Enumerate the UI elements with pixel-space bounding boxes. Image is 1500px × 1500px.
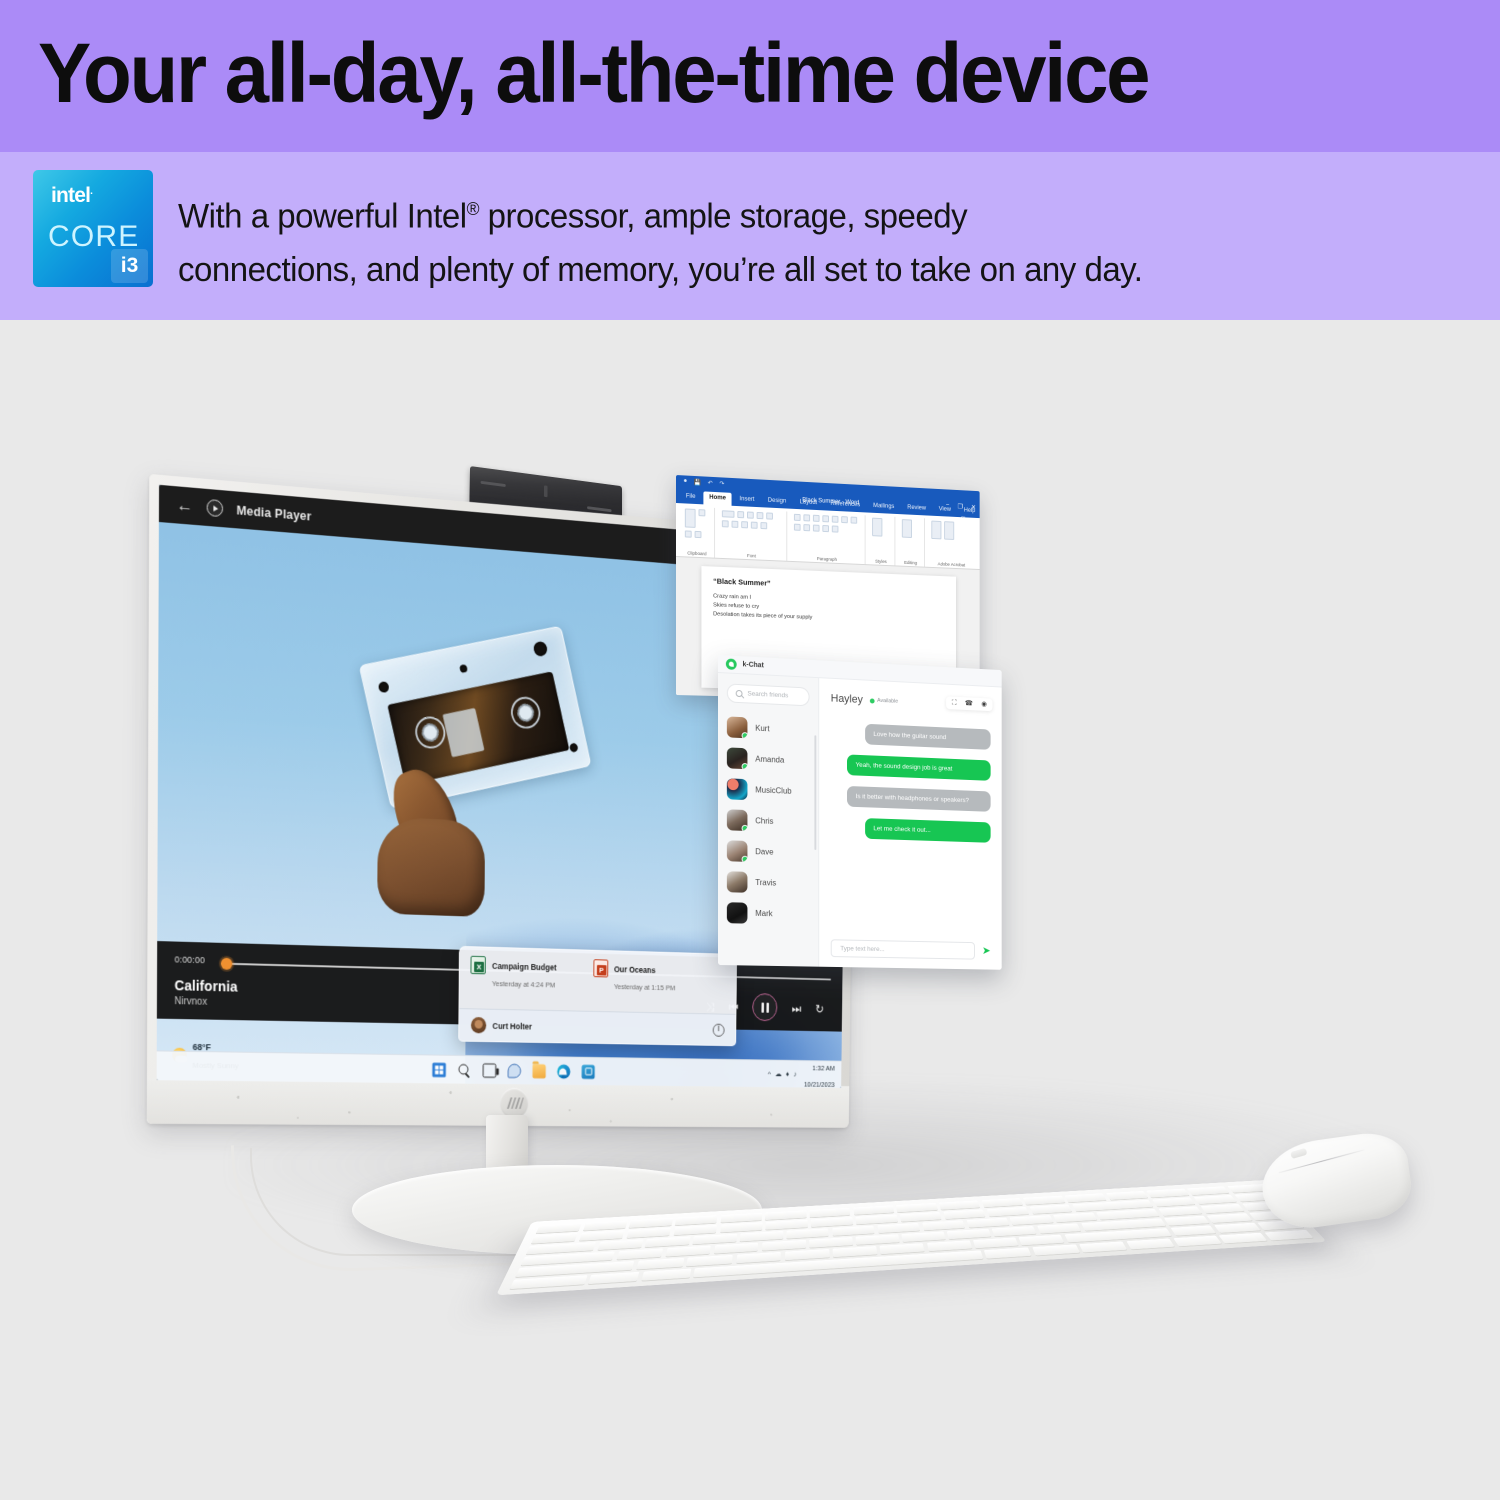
key bbox=[720, 1222, 763, 1232]
header-subtitle-line-1: With a powerful Intel® processor, ample … bbox=[178, 182, 1439, 243]
key bbox=[984, 1247, 1032, 1259]
chat-body: Search friends Kurt Amanda MusicClub bbox=[718, 673, 1002, 970]
file-explorer-icon[interactable] bbox=[532, 1064, 545, 1078]
key bbox=[693, 1234, 737, 1245]
chat-sidebar: Search friends Kurt Amanda MusicClub bbox=[718, 673, 819, 967]
ribbon-group-paragraph: Paragraph bbox=[789, 512, 866, 565]
key bbox=[853, 1205, 894, 1215]
key bbox=[832, 1226, 875, 1237]
paste-icon[interactable] bbox=[685, 508, 696, 527]
key bbox=[1207, 1213, 1252, 1223]
list-item[interactable]: Kurt bbox=[718, 711, 818, 746]
avatar bbox=[471, 1017, 486, 1033]
key bbox=[1019, 1234, 1065, 1245]
list-item[interactable]: Our Oceans Yesterday at 1:15 PM bbox=[593, 959, 675, 995]
key bbox=[531, 1233, 578, 1244]
header-top-band: Your all-day, all-the-time device bbox=[0, 0, 1500, 152]
ribbon-group-clipboard: Clipboard bbox=[680, 506, 715, 557]
key bbox=[1164, 1216, 1209, 1226]
key bbox=[1023, 1196, 1065, 1205]
track-title: California bbox=[174, 977, 237, 994]
key bbox=[1147, 1189, 1189, 1198]
online-status-dot bbox=[869, 698, 874, 703]
cloud-icon[interactable]: ☁ bbox=[775, 1070, 782, 1077]
page-title: Your all-day, all-the-time device bbox=[38, 25, 1148, 121]
phone-icon[interactable]: ☎ bbox=[965, 700, 973, 707]
volume-icon[interactable]: ♪ bbox=[793, 1070, 796, 1077]
key bbox=[766, 1220, 808, 1230]
increase-indent-icon[interactable] bbox=[831, 516, 838, 523]
find-replace-icon[interactable] bbox=[902, 519, 912, 538]
avatar bbox=[727, 778, 748, 800]
scrollbar[interactable] bbox=[814, 735, 816, 850]
key bbox=[973, 1237, 1018, 1248]
media-player-title: Media Player bbox=[236, 503, 311, 523]
system-tray: ^ ☁ ♦ ♪ 1:32 AM 10/21/2023 bbox=[768, 1057, 835, 1088]
friend-name: Kurt bbox=[755, 724, 769, 734]
request-signatures-icon[interactable] bbox=[944, 521, 954, 540]
key bbox=[787, 1228, 829, 1239]
key bbox=[736, 1252, 781, 1264]
key bbox=[856, 1234, 900, 1245]
message-input[interactable]: Type text here... bbox=[831, 939, 975, 959]
key bbox=[1037, 1223, 1082, 1233]
key bbox=[1065, 1193, 1107, 1202]
align-left-icon[interactable] bbox=[850, 517, 857, 524]
chevron-up-icon[interactable]: ^ bbox=[768, 1070, 771, 1077]
font-size-select[interactable] bbox=[737, 511, 744, 518]
edge-icon[interactable] bbox=[557, 1064, 570, 1078]
ribbon-group-styles: Styles bbox=[867, 515, 895, 565]
key bbox=[981, 1198, 1023, 1207]
search-icon bbox=[736, 690, 743, 697]
key bbox=[1200, 1204, 1244, 1214]
message-list: Love how the guitar sound Yeah, the soun… bbox=[819, 718, 1001, 933]
peer-status-label: Available bbox=[877, 698, 898, 705]
list-item[interactable]: MusicClub bbox=[718, 773, 818, 808]
numbering-icon[interactable] bbox=[803, 514, 810, 521]
redo-icon[interactable]: ↷ bbox=[719, 480, 724, 487]
peer-name: Hayley bbox=[831, 693, 863, 706]
key bbox=[922, 1220, 965, 1230]
list-item[interactable]: Dave bbox=[718, 835, 818, 869]
key bbox=[902, 1231, 946, 1242]
chat-bubble-outgoing: Yeah, the sound design job is great bbox=[847, 754, 991, 780]
maximize-button[interactable]: ❐ bbox=[958, 503, 963, 511]
create-pdf-icon[interactable] bbox=[931, 521, 941, 540]
key bbox=[673, 1225, 717, 1236]
repeat-icon[interactable]: ↻ bbox=[815, 1002, 824, 1014]
chat-bubble-outgoing: Let me check it out... bbox=[865, 818, 991, 843]
subscript-icon[interactable] bbox=[731, 521, 738, 528]
key bbox=[1126, 1238, 1174, 1249]
send-icon[interactable]: ➤ bbox=[982, 946, 991, 957]
key bbox=[641, 1268, 691, 1280]
avatar bbox=[727, 840, 748, 862]
start-menu[interactable]: Campaign Budget Yesterday at 4:24 PM Our… bbox=[458, 946, 737, 1046]
back-arrow-icon[interactable]: ← bbox=[177, 496, 194, 514]
text-highlight-icon[interactable] bbox=[751, 522, 758, 529]
key bbox=[714, 1243, 759, 1254]
borders-icon[interactable] bbox=[831, 525, 838, 532]
ribbon-group-label: Clipboard bbox=[680, 550, 714, 556]
friend-name: Amanda bbox=[755, 755, 784, 765]
list-item[interactable]: Travis bbox=[718, 866, 818, 899]
key bbox=[927, 1240, 972, 1251]
recent-file-name: Campaign Budget bbox=[492, 961, 557, 972]
key bbox=[665, 1245, 711, 1256]
search-placeholder: Search friends bbox=[747, 690, 788, 699]
cut-icon[interactable] bbox=[699, 509, 706, 516]
recent-file-meta: Yesterday at 4:24 PM bbox=[492, 979, 555, 989]
key bbox=[1029, 1204, 1072, 1214]
key bbox=[877, 1223, 920, 1233]
user-name: Curt Holter bbox=[492, 1021, 532, 1031]
friend-name: Dave bbox=[755, 847, 773, 857]
ribbon-group-editing: Editing bbox=[897, 517, 925, 567]
key bbox=[900, 1212, 942, 1222]
friend-name: MusicClub bbox=[755, 785, 791, 795]
decrease-indent-icon[interactable] bbox=[822, 515, 829, 522]
chat-bubble-incoming: Love how the guitar sound bbox=[865, 724, 991, 750]
chat-conversation: Hayley Available ⛶ ☎ ◉ Love how the guit… bbox=[819, 678, 1001, 970]
chat-window[interactable]: k-Chat − ❐ ✕ Search friends Kurt bbox=[718, 655, 1002, 970]
key bbox=[785, 1249, 830, 1260]
clock-date: 10/21/2023 bbox=[804, 1080, 835, 1088]
track-artist: Nirvnox bbox=[174, 996, 207, 1008]
key bbox=[626, 1228, 671, 1239]
network-icon[interactable]: ♦ bbox=[786, 1070, 789, 1077]
key bbox=[992, 1226, 1036, 1237]
start-icon[interactable] bbox=[432, 1062, 446, 1077]
status-badge: Available bbox=[869, 697, 898, 704]
online-status-dot bbox=[742, 825, 748, 831]
key bbox=[616, 1248, 663, 1259]
key bbox=[1032, 1244, 1080, 1255]
ribbon-group-label: Editing bbox=[897, 560, 924, 566]
online-status-dot bbox=[742, 763, 748, 769]
key bbox=[765, 1210, 806, 1220]
chat-bubble-incoming: Is it better with headphones or speakers… bbox=[847, 786, 991, 812]
excel-icon bbox=[470, 956, 485, 975]
online-status-dot bbox=[742, 732, 748, 738]
product-stage: ← Media Player bbox=[0, 320, 1500, 1500]
taskbar-icons bbox=[432, 1062, 595, 1078]
playback-elapsed-time: 0:00:00 bbox=[175, 954, 205, 965]
word-window-controls: − ❐ ✕ bbox=[946, 502, 976, 511]
key bbox=[809, 1237, 852, 1248]
tab-insert[interactable]: Insert bbox=[734, 493, 760, 507]
clock-time: 1:32 AM bbox=[812, 1063, 835, 1072]
key bbox=[1170, 1225, 1216, 1236]
key bbox=[686, 1255, 732, 1267]
pause-button[interactable] bbox=[753, 993, 778, 1021]
chat-app-logo-icon bbox=[726, 658, 737, 670]
friend-name: Mark bbox=[755, 909, 772, 918]
key bbox=[833, 1246, 878, 1257]
powerpoint-icon bbox=[593, 959, 608, 977]
font-family-select[interactable] bbox=[722, 510, 735, 518]
recent-file-name: Our Oceans bbox=[614, 964, 656, 974]
key bbox=[939, 1200, 980, 1210]
key bbox=[810, 1208, 851, 1218]
friend-name: Chris bbox=[755, 816, 773, 826]
key bbox=[583, 1221, 628, 1231]
key bbox=[943, 1209, 985, 1219]
recent-file-meta: Yesterday at 1:15 PM bbox=[614, 982, 675, 992]
align-right-icon[interactable] bbox=[803, 524, 810, 531]
bullets-icon[interactable] bbox=[794, 514, 801, 521]
sort-icon[interactable] bbox=[841, 516, 848, 523]
microsoft-store-icon[interactable] bbox=[582, 1064, 595, 1078]
user-account[interactable]: Curt Holter bbox=[471, 1017, 532, 1034]
avatar bbox=[727, 902, 748, 923]
key bbox=[740, 1231, 783, 1242]
key bbox=[636, 1258, 684, 1270]
seek-handle[interactable] bbox=[221, 958, 233, 970]
font-color-icon[interactable] bbox=[760, 522, 767, 529]
avatar bbox=[727, 809, 748, 831]
screen-share-icon[interactable]: ⛶ bbox=[952, 700, 957, 707]
ribbon-group-label: Adobe Acrobat bbox=[927, 561, 976, 568]
intel-core-i3-badge: intel. CORE i3 bbox=[33, 170, 153, 287]
friend-name: Travis bbox=[755, 878, 776, 888]
search-icon[interactable] bbox=[458, 1063, 472, 1077]
tab-file[interactable]: File bbox=[680, 490, 701, 504]
format-painter-icon[interactable] bbox=[695, 531, 702, 538]
product-banner: Your all-day, all-the-time device intel.… bbox=[0, 0, 1500, 1500]
power-icon[interactable] bbox=[713, 1023, 725, 1036]
conversation-actions: ⛶ ☎ ◉ bbox=[946, 696, 992, 711]
styles-gallery-icon[interactable] bbox=[872, 518, 882, 537]
underline-icon[interactable] bbox=[766, 512, 773, 519]
italic-icon[interactable] bbox=[756, 512, 763, 519]
undo-icon[interactable]: ↶ bbox=[708, 480, 713, 487]
next-track-icon[interactable]: ⏭ bbox=[792, 1002, 802, 1014]
ribbon-group-label: Styles bbox=[867, 558, 894, 564]
play-circle-icon bbox=[207, 499, 223, 517]
chat-app-title: k-Chat bbox=[743, 661, 764, 669]
list-item[interactable]: Campaign Budget Yesterday at 4:24 PM bbox=[470, 956, 556, 992]
document-heading: “Black Summer” bbox=[713, 577, 945, 595]
key bbox=[1214, 1223, 1261, 1233]
key bbox=[1187, 1186, 1230, 1195]
key bbox=[720, 1213, 762, 1223]
key bbox=[1173, 1235, 1222, 1246]
list-item[interactable]: Amanda bbox=[718, 742, 818, 777]
key bbox=[1219, 1232, 1268, 1243]
key bbox=[1152, 1197, 1195, 1206]
chat-icon[interactable] bbox=[508, 1063, 521, 1077]
message-placeholder: Type text here... bbox=[840, 945, 884, 953]
key bbox=[1053, 1212, 1097, 1222]
line-spacing-icon[interactable] bbox=[813, 525, 820, 532]
key bbox=[629, 1218, 673, 1228]
copy-icon[interactable] bbox=[685, 530, 692, 537]
key bbox=[510, 1275, 588, 1289]
recommended-section: Campaign Budget Yesterday at 4:24 PM Our… bbox=[459, 947, 736, 1007]
search-friends-input[interactable]: Search friends bbox=[727, 683, 810, 706]
webcam-lens-icon bbox=[544, 485, 548, 497]
video-icon[interactable]: ◉ bbox=[981, 701, 987, 708]
task-view-icon[interactable] bbox=[483, 1063, 497, 1077]
key bbox=[880, 1243, 925, 1254]
list-item[interactable]: Chris bbox=[718, 804, 818, 838]
avatar bbox=[727, 716, 748, 738]
align-center-icon[interactable] bbox=[794, 524, 801, 531]
header-subtitle-line-2: connections, and plenty of memory, you’r… bbox=[178, 243, 1439, 297]
save-icon[interactable]: 💾 bbox=[694, 479, 701, 486]
key bbox=[1079, 1241, 1127, 1252]
key bbox=[966, 1218, 1009, 1228]
key bbox=[579, 1230, 625, 1241]
avatar bbox=[727, 747, 748, 769]
key bbox=[811, 1217, 853, 1227]
key bbox=[896, 1203, 937, 1213]
multilevel-list-icon[interactable] bbox=[813, 515, 820, 522]
key bbox=[986, 1207, 1029, 1217]
list-item[interactable]: Mark bbox=[718, 897, 818, 930]
minimize-button[interactable]: − bbox=[946, 502, 949, 510]
bold-icon[interactable] bbox=[747, 511, 754, 518]
message-composer: Type text here... ➤ bbox=[819, 929, 1001, 970]
key bbox=[762, 1240, 806, 1251]
shading-icon[interactable] bbox=[822, 525, 829, 532]
superscript-icon[interactable] bbox=[741, 521, 748, 528]
autosave-icon[interactable]: ⏺ bbox=[684, 478, 687, 485]
start-menu-footer: Curt Holter bbox=[459, 1008, 735, 1045]
header-subtitle: With a powerful Intel® processor, ample … bbox=[178, 182, 1439, 297]
key bbox=[1158, 1206, 1202, 1216]
online-status-dot bbox=[742, 856, 748, 862]
key bbox=[856, 1214, 898, 1224]
key bbox=[1193, 1195, 1237, 1204]
key bbox=[675, 1215, 718, 1225]
key bbox=[536, 1223, 582, 1233]
strikethrough-icon[interactable] bbox=[722, 520, 729, 527]
key bbox=[1106, 1191, 1148, 1200]
ribbon-group-acrobat: Adobe Acrobat bbox=[927, 518, 976, 568]
ribbon-group-font: Font bbox=[717, 508, 787, 561]
intel-tier-label: i3 bbox=[111, 249, 148, 283]
close-button[interactable]: ✕ bbox=[971, 503, 976, 511]
key bbox=[588, 1272, 639, 1285]
key bbox=[1010, 1215, 1053, 1225]
intel-brand-label: intel. bbox=[51, 184, 92, 208]
key bbox=[645, 1236, 690, 1247]
key bbox=[947, 1229, 991, 1240]
clock[interactable]: 1:32 AM 10/21/2023 bbox=[804, 1058, 835, 1088]
key bbox=[597, 1239, 643, 1250]
avatar bbox=[727, 871, 748, 893]
hp-logo bbox=[500, 1088, 529, 1119]
